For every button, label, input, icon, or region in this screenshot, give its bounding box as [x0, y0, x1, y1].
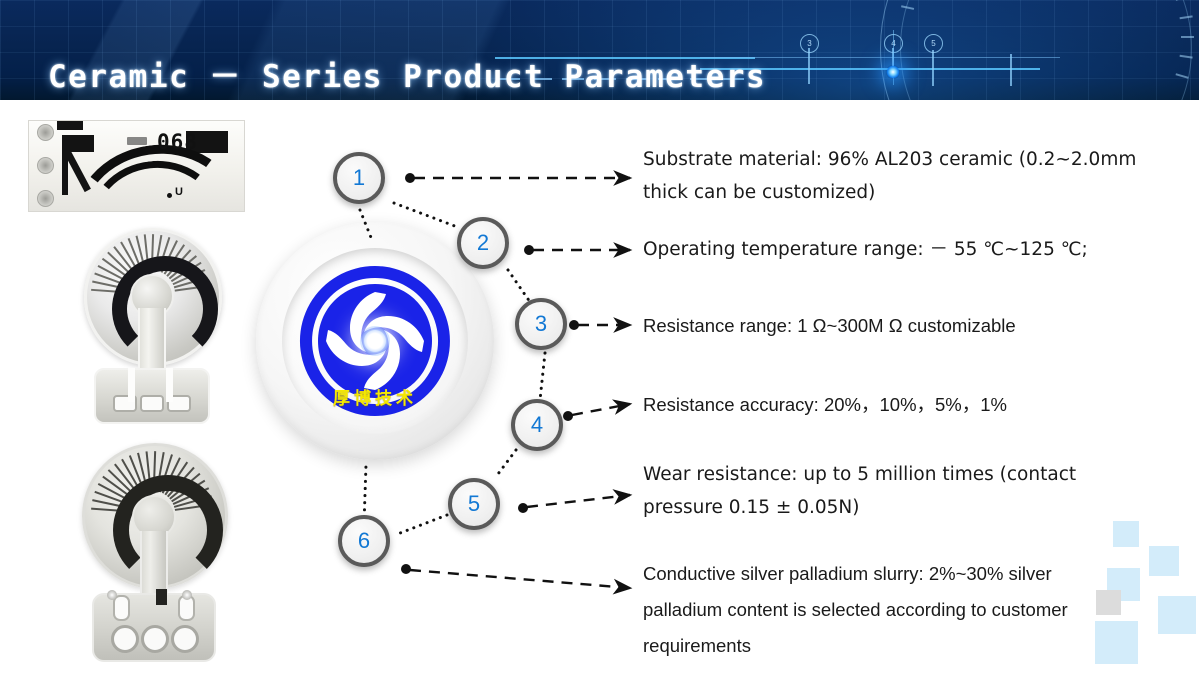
arrow-origin-dot-2 — [524, 245, 534, 255]
sensor-gray-hole-1 — [111, 625, 139, 653]
sensor-silver-leg-gap-1 — [128, 368, 135, 402]
header-ruler-marker-3-label: 3 — [807, 39, 811, 48]
bullet-6-line-2: palladium content is selected according … — [643, 592, 1108, 628]
bullet-text-4: Resistance accuracy: 20%，10%，5%，1% — [643, 388, 1163, 421]
slide-root: 3 4 5 Ceramic － Series Product Parameter… — [0, 0, 1199, 674]
deco-square-2 — [1149, 546, 1179, 576]
product-photo-sensor-gray — [70, 443, 235, 663]
header-tick-stem-plain — [1010, 54, 1012, 86]
node-2-label: 2 — [477, 230, 489, 256]
company-logo: 厚博技术 — [256, 222, 494, 460]
pcb-marking-small — [127, 137, 147, 145]
arrow-origin-dot-3 — [569, 320, 579, 330]
deco-square-4 — [1158, 596, 1196, 634]
sensor-gray-slot-left — [113, 595, 130, 621]
sensor-gray-hole-3 — [171, 625, 199, 653]
bullet-text-5: Wear resistance: up to 5 million times (… — [643, 458, 1143, 524]
arrow-origin-dot-4 — [563, 411, 573, 421]
node-1[interactable]: 1 — [333, 152, 385, 204]
node-5[interactable]: 5 — [448, 478, 500, 530]
chain-4-5 — [495, 450, 516, 478]
bullet-text-1: Substrate material: 96% AL203 ceramic (0… — [643, 143, 1163, 209]
node-4[interactable]: 4 — [511, 399, 563, 451]
bullet-3-line-1: Resistance range: 1 Ω~300M Ω customizabl… — [643, 309, 1163, 342]
sensor-gray-rivet-left — [107, 590, 117, 600]
pcb-contact-top-left — [57, 121, 83, 130]
arrow-to-bullet-6 — [410, 570, 630, 588]
node-6[interactable]: 6 — [338, 515, 390, 567]
header-ruler-marker-3: 3 — [800, 34, 819, 53]
logo-company-name-cn: 厚博技术 — [256, 384, 494, 409]
sensor-silver-leg-gap-2 — [166, 368, 173, 402]
bullet-text-3: Resistance range: 1 Ω~300M Ω customizabl… — [643, 309, 1163, 342]
node-6-label: 6 — [358, 528, 370, 554]
node-3[interactable]: 3 — [515, 298, 567, 350]
pcb-trace-vertical — [62, 147, 68, 195]
arrow-to-bullet-5 — [527, 495, 630, 507]
pcb-marking-u: U — [175, 186, 183, 198]
bullet-1-line-2: thick can be customized) — [643, 176, 1163, 209]
bullet-2-line-1: Operating temperature range: － 55 ℃~125 … — [643, 233, 1163, 266]
chain-3-4 — [540, 353, 545, 400]
pcb-pad-1 — [37, 124, 54, 141]
product-photo-sensor-silver — [70, 228, 230, 423]
bullet-5-line-2: pressure 0.15 ± 0.05N) — [643, 491, 1143, 524]
arrow-to-bullet-4 — [572, 404, 630, 415]
node-1-label: 1 — [353, 165, 365, 191]
bullet-text-6: Conductive silver palladium slurry: 2%~3… — [643, 556, 1108, 664]
bullet-text-2: Operating temperature range: － 55 ℃~125 … — [643, 233, 1163, 266]
node-3-label: 3 — [535, 311, 547, 337]
bullet-4-line-1: Resistance accuracy: 20%，10%，5%，1% — [643, 388, 1163, 421]
slide-header: 3 4 5 Ceramic － Series Product Parameter… — [0, 0, 1199, 100]
node-2[interactable]: 2 — [457, 217, 509, 269]
node-4-label: 4 — [531, 412, 543, 438]
sensor-gray-chip-black — [156, 589, 167, 605]
header-ruler-marker-5-label: 5 — [931, 39, 935, 48]
chain-2-3 — [508, 270, 530, 302]
pcb-board: 068 U — [28, 120, 245, 212]
arrow-origin-dot-1 — [405, 173, 415, 183]
bullet-6-line-3: requirements — [643, 628, 1108, 664]
header-ruler-marker-5: 5 — [924, 34, 943, 53]
header-glow-dot — [886, 65, 900, 79]
chain-5-6 — [395, 515, 447, 535]
deco-square-1 — [1113, 521, 1139, 547]
sensor-gray-hole-2 — [141, 625, 169, 653]
deco-square-gray — [1096, 590, 1121, 615]
pcb-pad-2 — [37, 157, 54, 174]
bullet-5-line-1: Wear resistance: up to 5 million times (… — [643, 458, 1143, 491]
arrow-origin-dot-5 — [518, 503, 528, 513]
sensor-silver-slot-2 — [140, 395, 164, 412]
arrow-origin-dot-6 — [401, 564, 411, 574]
bullet-6-line-1: Conductive silver palladium slurry: 2%~3… — [643, 556, 1108, 592]
pcb-model-label: 068 — [157, 130, 198, 154]
header-tick-stem-5 — [932, 50, 934, 86]
logo-center-glow — [360, 326, 390, 356]
header-tick-stem-3 — [808, 48, 810, 84]
page-title: Ceramic － Series Product Parameters — [48, 51, 766, 96]
deco-square-5 — [1095, 621, 1138, 664]
pcb-trace-diagonal — [64, 150, 91, 192]
pcb-polarity-dot — [167, 193, 172, 198]
sensor-gray-rivet-right — [182, 590, 192, 600]
node-5-label: 5 — [468, 491, 480, 517]
pcb-pad-3 — [37, 190, 54, 207]
bullet-1-line-1: Substrate material: 96% AL203 ceramic (0… — [643, 143, 1163, 176]
